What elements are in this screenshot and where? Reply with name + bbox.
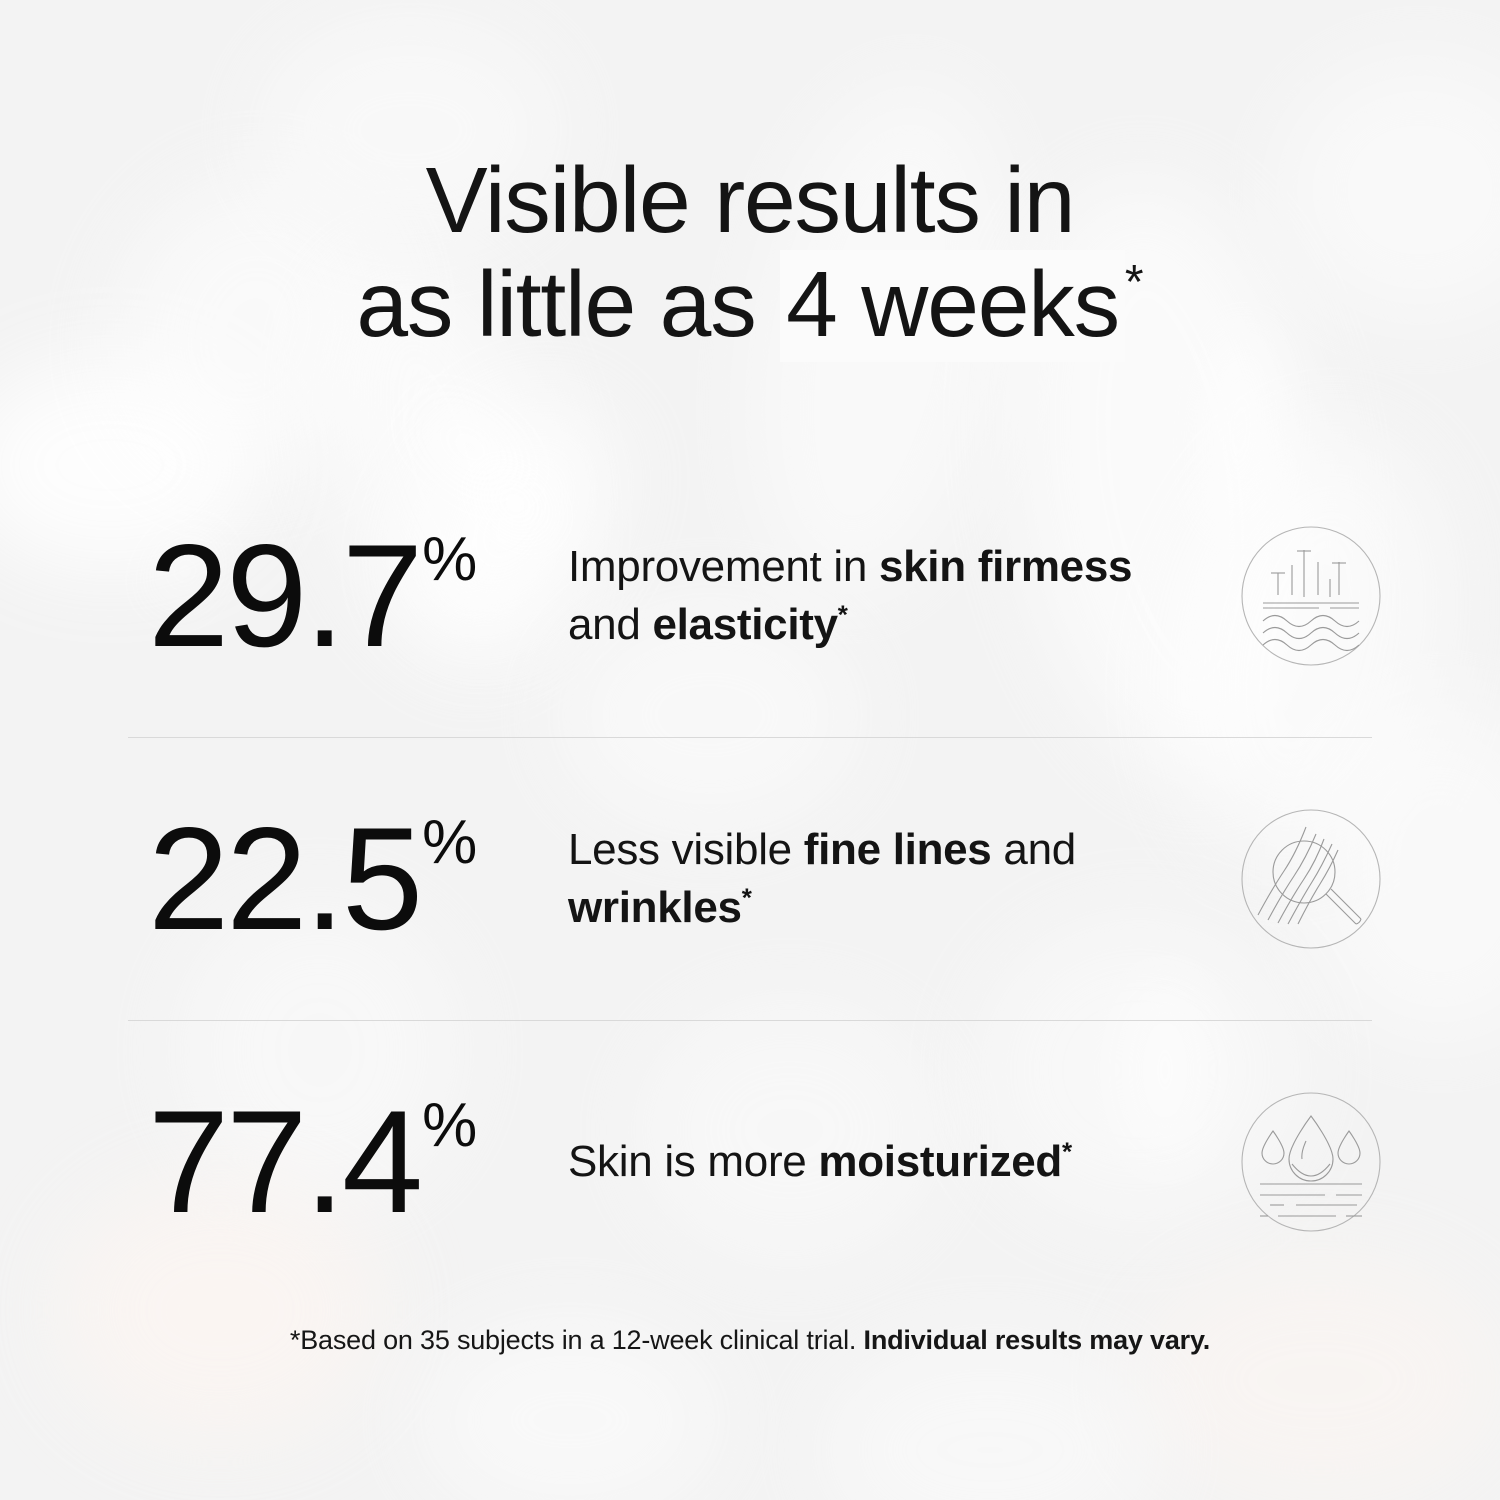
stat-row: 29.7 % Improvement in skin firmess and e… (0, 455, 1500, 737)
desc-text: Skin is more (568, 1137, 818, 1186)
stat-row: 77.4 % Skin is more moisturized* (0, 1021, 1500, 1303)
desc-text: and (568, 600, 652, 649)
stat-percent-sign: % (422, 1095, 476, 1157)
desc-text: Improvement in (568, 542, 879, 591)
desc-asterisk: * (1062, 1136, 1072, 1166)
desc-emphasis: wrinkles (568, 883, 742, 932)
stat-percent-sign: % (422, 529, 476, 591)
stat-row: 22.5 % Less visible fine lines and wrink… (0, 738, 1500, 1020)
desc-emphasis: fine lines (804, 825, 992, 874)
headline: Visible results in as little as 4 weeks* (0, 148, 1500, 356)
footnote: *Based on 35 subjects in a 12-week clini… (0, 1325, 1500, 1356)
skin-firmness-icon (1232, 517, 1390, 675)
stat-figure: 29.7 % (148, 523, 568, 669)
headline-line-1-text: Visible results in (426, 148, 1075, 252)
footnote-regular: *Based on 35 subjects in a 12-week clini… (290, 1325, 864, 1355)
desc-emphasis: moisturized (818, 1137, 1062, 1186)
desc-emphasis: skin firmess (879, 542, 1132, 591)
headline-asterisk: * (1125, 256, 1144, 309)
footnote-bold: Individual results may vary. (864, 1325, 1211, 1355)
magnifier-wrinkles-icon (1232, 800, 1390, 958)
infographic-page: Visible results in as little as 4 weeks*… (0, 0, 1500, 1500)
stat-figure: 77.4 % (148, 1089, 568, 1235)
desc-emphasis: elasticity (652, 600, 837, 649)
stat-description: Skin is more moisturized* (568, 1133, 1153, 1191)
desc-text: Less visible (568, 825, 804, 874)
desc-asterisk: * (742, 882, 752, 912)
desc-text: and (991, 825, 1075, 874)
stat-number: 29.7 (148, 523, 420, 669)
headline-highlight: 4 weeks (780, 250, 1125, 362)
stat-number: 22.5 (148, 806, 420, 952)
water-droplets-icon (1232, 1083, 1390, 1241)
stat-description: Improvement in skin firmess and elastici… (568, 538, 1153, 654)
desc-asterisk: * (838, 599, 848, 629)
stat-description: Less visible fine lines and wrinkles* (568, 821, 1153, 937)
headline-line-1: Visible results in (0, 148, 1500, 252)
headline-line-2: as little as 4 weeks* (0, 252, 1500, 356)
stat-figure: 22.5 % (148, 806, 568, 952)
stat-number: 77.4 (148, 1089, 420, 1235)
stats-list: 29.7 % Improvement in skin firmess and e… (0, 455, 1500, 1303)
stat-percent-sign: % (422, 812, 476, 874)
headline-line-2-prefix: as little as (356, 252, 780, 356)
